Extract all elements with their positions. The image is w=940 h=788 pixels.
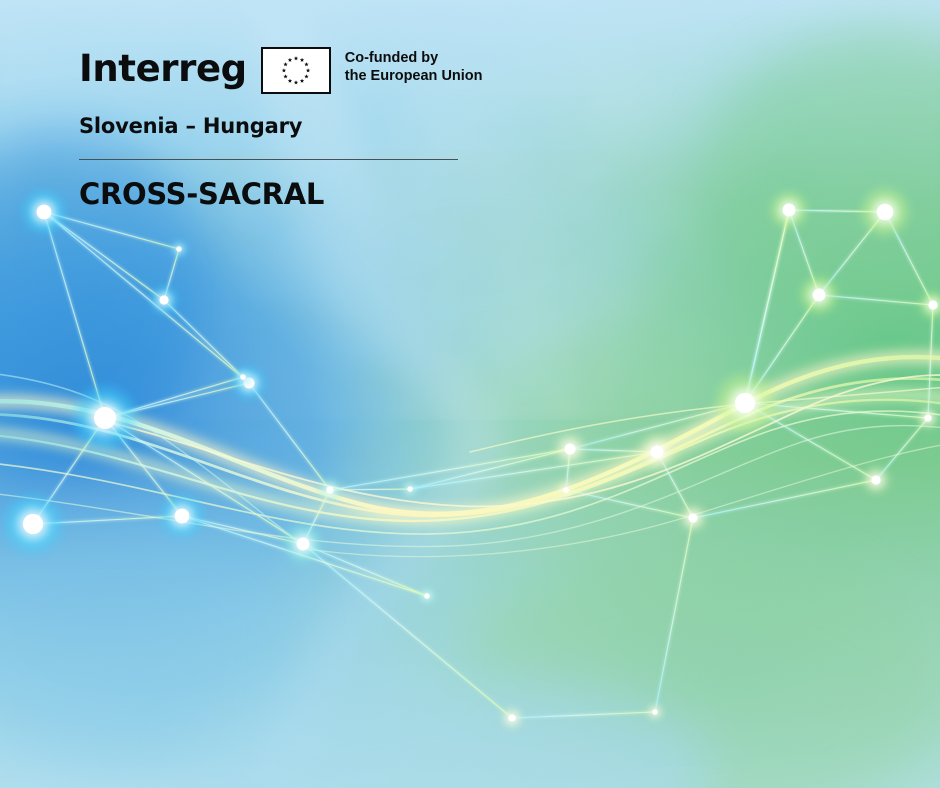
- light-streams: [0, 357, 940, 557]
- interreg-lockup: Interreg Co-funded by the European Union: [79, 44, 499, 94]
- eu-caption-line-1: Co-funded by: [345, 50, 483, 68]
- project-title: CROSS-SACRAL: [79, 177, 499, 211]
- brand-divider: [79, 159, 458, 160]
- eu-caption-line-2: the European Union: [345, 68, 483, 86]
- interreg-wordmark: Interreg: [79, 50, 247, 87]
- eu-funding-caption: Co-funded by the European Union: [345, 50, 483, 85]
- eu-flag-icon: [261, 47, 331, 94]
- network-nodes: [0, 184, 940, 730]
- poster-canvas: Interreg Co-funded by the European Union…: [0, 0, 940, 788]
- branding-block: Interreg Co-funded by the European Union…: [79, 44, 499, 211]
- programme-name: Slovenia – Hungary: [79, 114, 499, 138]
